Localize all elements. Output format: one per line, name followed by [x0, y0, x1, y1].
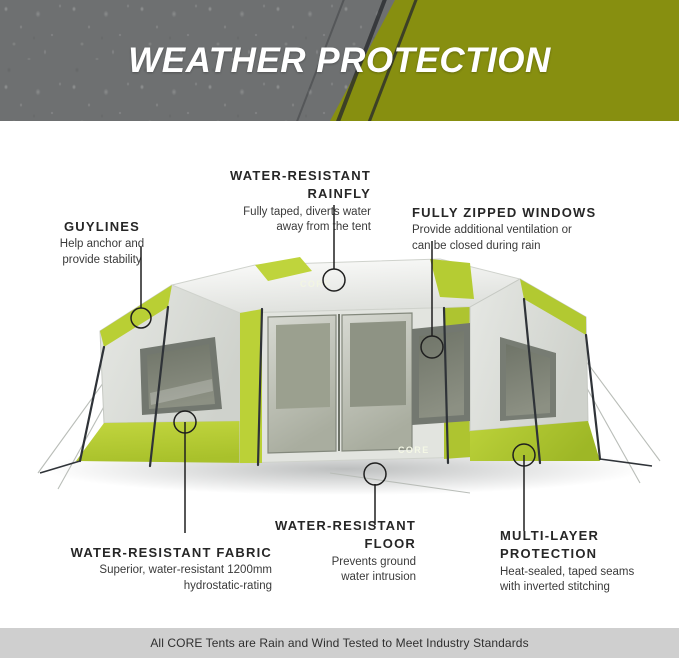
footer-bar: All CORE Tents are Rain and Wind Tested …: [0, 628, 679, 658]
svg-text:CORE: CORE: [398, 445, 430, 455]
tent-body-left-green: [76, 421, 250, 463]
footer-divider: [0, 616, 679, 617]
header-banner: WEATHER PROTECTION: [0, 0, 679, 121]
footer-text: All CORE Tents are Rain and Wind Tested …: [150, 636, 528, 650]
core-logo-body: CORE: [398, 445, 430, 455]
page-title: WEATHER PROTECTION: [0, 0, 679, 121]
product-illustration: CORE CORE: [0, 121, 679, 616]
window-right-mesh: [419, 331, 464, 418]
tent-door-mesh-left: [276, 323, 330, 409]
tent-door-mesh-right: [350, 321, 406, 407]
